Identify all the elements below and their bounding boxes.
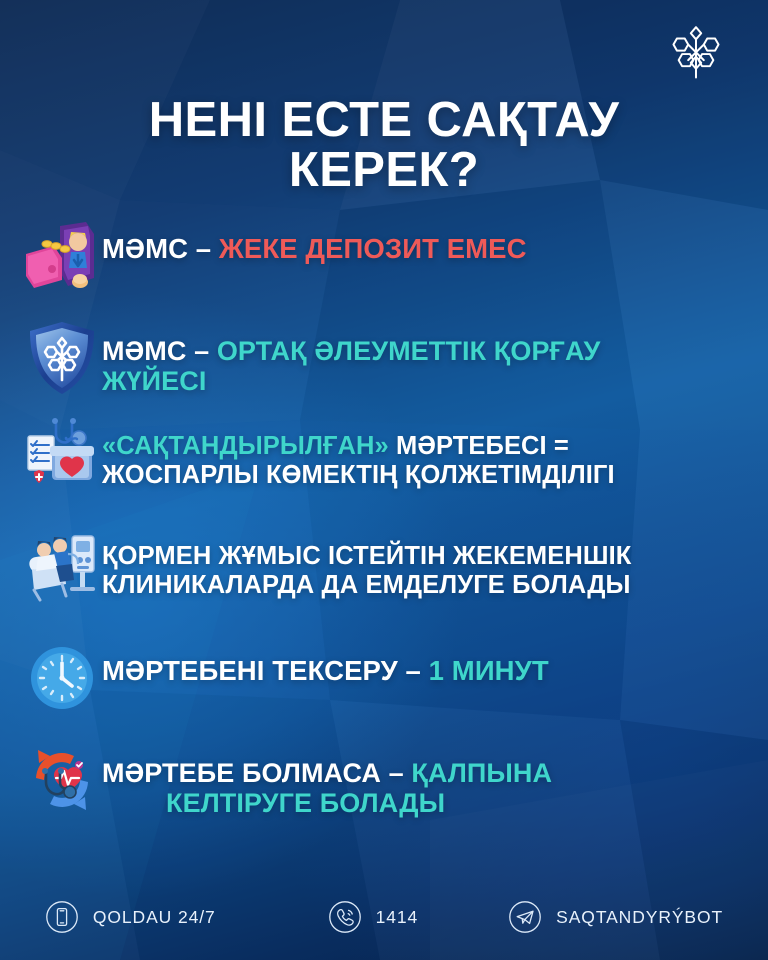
text-segment-accent: ҚАЛПЫНА	[411, 758, 552, 788]
footer-contact-label: SAQTANDYRÝBOT	[556, 907, 723, 928]
footer-contacts: QOLDAU 24/7 1414	[0, 900, 768, 934]
list-item-text: МӘРТЕБЕ БОЛМАСА – ҚАЛПЫНА КЕЛТІРУГЕ БОЛА…	[102, 740, 768, 818]
footer-contact-qoldau[interactable]: QOLDAU 24/7	[45, 900, 216, 934]
text-segment: МӘРТЕБЕНІ ТЕКСЕРУ –	[102, 655, 429, 686]
text-segment: ЖОСПАРЛЫ КӨМЕКТІҢ ҚОЛЖЕТІМДІЛІГІ	[102, 461, 750, 490]
text-segment-accent: ЖҮЙЕСІ	[102, 366, 750, 396]
text-segment: МӘРТЕБЕ БОЛМАСА –	[102, 758, 411, 788]
medical-kit-stethoscope-icon	[22, 414, 102, 494]
list-item-text: ҚОРМЕН ЖҰМЫС ІСТЕЙТІН ЖЕКЕМЕНШІК КЛИНИКА…	[102, 524, 768, 599]
text-segment-accent: «САҚТАНДЫРЫЛҒАН»	[102, 432, 389, 460]
footer-contact-1414[interactable]: 1414	[328, 900, 419, 934]
list-item: «САҚТАНДЫРЫЛҒАН» МӘРТЕБЕСІ = ЖОСПАРЛЫ КӨ…	[0, 414, 768, 494]
list-item: МӘМС – ОРТАҚ ӘЛЕУМЕТТІК ҚОРҒАУ ЖҮЙЕСІ	[0, 318, 768, 398]
list-item: ҚОРМЕН ЖҰМЫС ІСТЕЙТІН ЖЕКЕМЕНШІК КЛИНИКА…	[0, 524, 768, 604]
fsms-snowflake-logo	[670, 22, 722, 80]
text-segment: КЛИНИКАЛАРДА ДА ЕМДЕЛУГЕ БОЛАДЫ	[102, 571, 750, 600]
text-segment-accent: КЕЛТІРУГЕ БОЛАДЫ	[102, 788, 750, 818]
title-line-2: КЕРЕК?	[0, 146, 768, 196]
list-item-text: МӘРТЕБЕНІ ТЕКСЕРУ – 1 МИНУТ	[102, 638, 768, 687]
text-segment: ҚОРМЕН ЖҰМЫС ІСТЕЙТІН ЖЕКЕМЕНШІК	[102, 542, 750, 571]
text-segment: МӘМС –	[102, 233, 219, 264]
footer-contact-label: QOLDAU 24/7	[93, 907, 216, 928]
text-segment-accent: ЖЕКЕ ДЕПОЗИТ ЕМЕС	[219, 233, 527, 264]
smartphone-icon	[45, 900, 79, 934]
heart-stethoscope-restore-icon	[22, 740, 102, 820]
tips-list: МӘМС – ЖЕКЕ ДЕПОЗИТ ЕМЕС	[0, 216, 768, 820]
page-title: НЕНІ ЕСТЕ САҚТАУ КЕРЕК?	[0, 96, 768, 196]
list-item-text: МӘМС – ОРТАҚ ӘЛЕУМЕТТІК ҚОРҒАУ ЖҮЙЕСІ	[102, 318, 768, 396]
telegram-paper-plane-icon	[508, 900, 542, 934]
text-segment-accent: ОРТАҚ ӘЛЕУМЕТТІК ҚОРҒАУ	[217, 336, 601, 366]
list-item: МӘРТЕБЕНІ ТЕКСЕРУ – 1 МИНУТ	[0, 638, 768, 718]
list-item: МӘМС – ЖЕКЕ ДЕПОЗИТ ЕМЕС	[0, 216, 768, 296]
text-segment: МӘРТЕБЕСІ =	[389, 432, 569, 460]
infographic-poster: НЕНІ ЕСТЕ САҚТАУ КЕРЕК?	[0, 0, 768, 960]
list-item: МӘРТЕБЕ БОЛМАСА – ҚАЛПЫНА КЕЛТІРУГЕ БОЛА…	[0, 740, 768, 820]
text-segment-accent: 1 МИНУТ	[429, 655, 549, 686]
clock-icon	[22, 638, 102, 718]
footer-contact-label: 1414	[376, 907, 419, 928]
shield-snowflake-icon	[22, 318, 102, 398]
title-line-1: НЕНІ ЕСТЕ САҚТАУ	[0, 96, 768, 146]
phone-wallet-coins-icon	[22, 216, 102, 296]
list-item-text: «САҚТАНДЫРЫЛҒАН» МӘРТЕБЕСІ = ЖОСПАРЛЫ КӨ…	[102, 414, 768, 489]
text-segment: МӘМС –	[102, 336, 217, 366]
footer-contact-telegram-bot[interactable]: SAQTANDYRÝBOT	[508, 900, 723, 934]
dialysis-patient-icon	[22, 524, 102, 604]
list-item-text: МӘМС – ЖЕКЕ ДЕПОЗИТ ЕМЕС	[102, 216, 768, 265]
phone-call-icon	[328, 900, 362, 934]
